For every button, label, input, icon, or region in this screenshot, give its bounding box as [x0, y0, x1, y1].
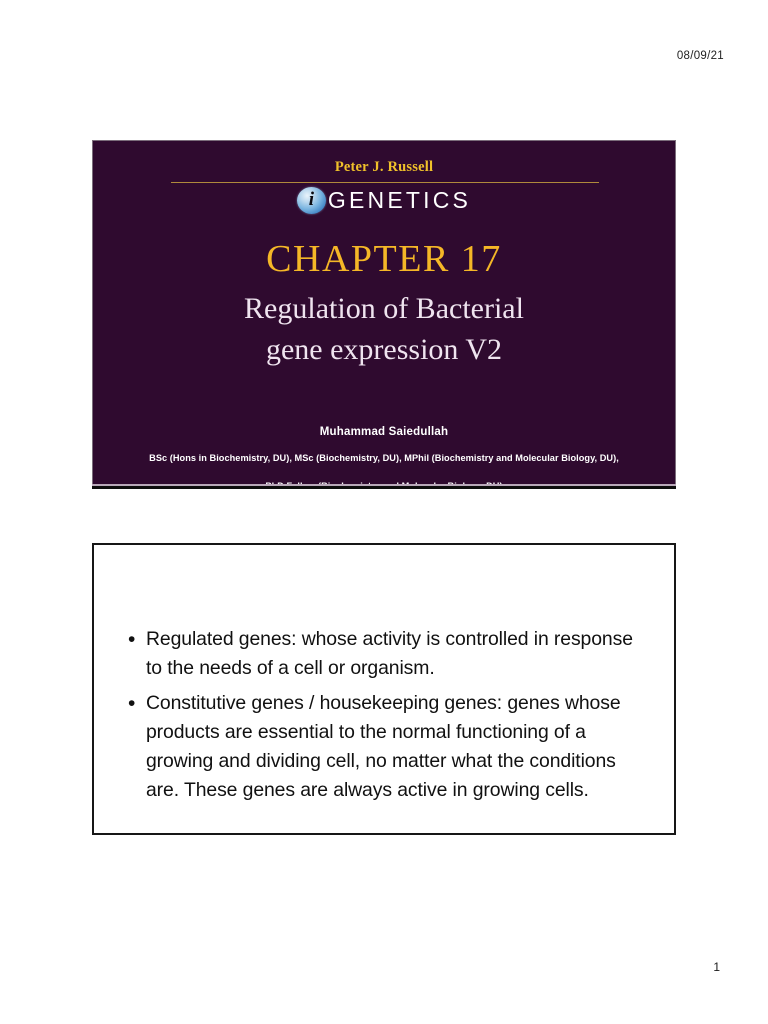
igenetics-logo: i GENETICS — [93, 187, 675, 214]
list-item: • Constitutive genes / housekeeping gene… — [128, 689, 648, 805]
presenter-name: Muhammad Saiedullah — [93, 426, 675, 438]
brand-divider-rule — [171, 182, 599, 183]
subject-heading-line1: Regulation of Bacterial — [93, 288, 675, 329]
bullet-marker-icon: • — [128, 625, 146, 654]
page-number: 1 — [713, 960, 720, 974]
igenetics-wordmark: GENETICS — [328, 187, 471, 214]
title-slide: Peter J. Russell i GENETICS CHAPTER 17 R… — [92, 140, 676, 488]
page-date: 08/09/21 — [677, 50, 724, 62]
bullet-text: Regulated genes: whose activity is contr… — [146, 625, 648, 683]
presenter-credentials-line1: BSc (Hons in Biochemistry, DU), MSc (Bio… — [93, 453, 675, 463]
bullet-text: Constitutive genes / housekeeping genes:… — [146, 689, 648, 805]
title-slide-body: Peter J. Russell i GENETICS CHAPTER 17 R… — [93, 141, 675, 487]
igenetics-i-sphere-icon: i — [297, 187, 326, 214]
brand-author-name: Peter J. Russell — [93, 159, 675, 176]
bullet-list: • Regulated genes: whose activity is con… — [128, 625, 648, 811]
content-slide: • Regulated genes: whose activity is con… — [92, 543, 676, 835]
chapter-heading: CHAPTER 17 — [93, 237, 675, 281]
list-item: • Regulated genes: whose activity is con… — [128, 625, 648, 683]
subject-heading: Regulation of Bacterial gene expression … — [93, 288, 675, 371]
title-slide-bottom-rule — [92, 486, 676, 489]
bullet-marker-icon: • — [128, 689, 146, 718]
igenetics-i-letter: i — [309, 190, 314, 209]
subject-heading-line2: gene expression V2 — [93, 329, 675, 370]
